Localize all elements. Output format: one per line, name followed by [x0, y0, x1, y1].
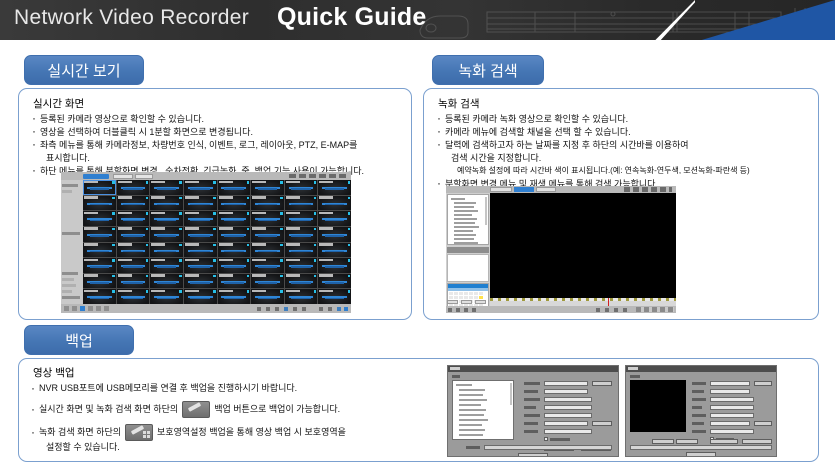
panel-recording-search: 녹화 검색 등록된 카메라 녹화 영상으로 확인할 수 있습니다. 카메라 메뉴… — [423, 88, 819, 320]
list-item: 등록된 카메라 영상으로 확인할 수 있습니다. — [31, 113, 411, 125]
camera-tile[interactable] — [150, 258, 183, 273]
sr-timeline[interactable] — [490, 298, 676, 306]
lv-camera-grid[interactable] — [83, 180, 351, 304]
camera-tile[interactable] — [184, 243, 217, 258]
lv-tool-icon[interactable] — [302, 307, 306, 311]
camera-tile[interactable] — [285, 227, 318, 242]
list-item: 등록된 카메라 녹화 영상으로 확인할 수 있습니다. — [436, 113, 818, 125]
camera-tile[interactable] — [150, 274, 183, 289]
panel-backup: 영상 백업 · NVR USB포트에 USB메모리를 연결 후 백업을 진행하시… — [18, 358, 819, 462]
sr-playhead[interactable] — [608, 298, 609, 306]
camera-tile[interactable] — [285, 289, 318, 304]
sr-timeline-ticks — [490, 298, 676, 301]
camera-tile[interactable] — [318, 243, 351, 258]
camera-tile[interactable] — [150, 227, 183, 242]
camera-tile[interactable] — [218, 258, 251, 273]
dialog-titlebar — [626, 366, 776, 372]
camera-tile[interactable] — [150, 243, 183, 258]
camera-tile[interactable] — [83, 227, 116, 242]
list-item: 예약녹화 설정에 따라 시간바 색이 표시됩니다.(예: 연속녹화-연두색, 모… — [436, 165, 818, 177]
list-item: 카메라 메뉴에 검색할 채널을 선택 할 수 있습니다. — [436, 126, 818, 138]
camera-tile[interactable] — [218, 227, 251, 242]
camera-tile[interactable] — [83, 196, 116, 211]
sr-btn-2[interactable] — [461, 300, 472, 304]
calendar-weekdays — [448, 288, 488, 291]
lv-left-sidebar[interactable] — [61, 180, 83, 304]
panel-live-view: 실시간 화면 등록된 카메라 영상으로 확인할 수 있습니다. 영상을 선택하여… — [18, 88, 412, 320]
camera-tile[interactable] — [318, 274, 351, 289]
backup-icon[interactable] — [182, 401, 210, 418]
camera-tile[interactable] — [318, 211, 351, 226]
backup-line-2-pre: 실시간 화면 및 녹화 검색 화면 하단의 — [39, 403, 178, 416]
lv-top-toolbar[interactable] — [61, 172, 351, 180]
badge-recording-search: 녹화 검색 — [432, 55, 544, 85]
live-section-title: 실시간 화면 — [33, 96, 411, 111]
sr-info-area — [447, 254, 489, 282]
lv-tab-3[interactable] — [135, 174, 153, 180]
camera-tile[interactable] — [218, 274, 251, 289]
backup-protect-dialog-screenshot[interactable] — [625, 365, 777, 457]
lv-tool-icon[interactable] — [275, 307, 279, 311]
camera-tile[interactable] — [117, 180, 150, 195]
sr-tab-active[interactable] — [514, 187, 534, 192]
sr-left-sidebar[interactable] — [446, 193, 490, 313]
lv-tool-icon[interactable] — [266, 307, 270, 311]
list-item: 표시합니다. — [31, 152, 411, 164]
camera-tile[interactable] — [285, 243, 318, 258]
dialog-action-btn-2[interactable] — [676, 439, 698, 444]
lv-tool-icon[interactable] — [337, 307, 341, 311]
backup-protect-icon[interactable] — [125, 424, 153, 441]
lv-tool-icon[interactable] — [293, 307, 297, 311]
camera-tile[interactable] — [150, 196, 183, 211]
list-item: 달력에 검색하고자 하는 날짜를 지정 후 하단의 시간바를 이용하여 — [436, 139, 818, 151]
dialog-action-btn-1[interactable] — [652, 439, 674, 444]
camera-tile[interactable] — [184, 211, 217, 226]
camera-tile[interactable] — [318, 258, 351, 273]
dialog-close-btn[interactable] — [686, 452, 716, 457]
lv-layout-btn[interactable] — [64, 306, 69, 311]
camera-tile[interactable] — [285, 274, 318, 289]
page-subtitle: Quick Guide — [277, 3, 426, 32]
camera-tile[interactable] — [218, 211, 251, 226]
camera-tile[interactable] — [318, 180, 351, 195]
camera-tile[interactable] — [117, 258, 150, 273]
dialog-camera-list[interactable] — [452, 380, 514, 440]
camera-tile[interactable] — [251, 180, 284, 195]
camera-tile[interactable] — [150, 211, 183, 226]
camera-tile[interactable] — [218, 180, 251, 195]
lv-tool-icon[interactable] — [328, 307, 332, 311]
calendar-selected-day[interactable] — [479, 296, 483, 299]
camera-tile[interactable] — [218, 196, 251, 211]
search-section-title: 녹화 검색 — [438, 96, 818, 111]
page-header: Network Video Recorder Quick Guide — [0, 0, 835, 40]
camera-tile[interactable] — [83, 243, 116, 258]
camera-tile[interactable] — [184, 196, 217, 211]
dialog-progress — [630, 445, 772, 450]
camera-tile[interactable] — [117, 243, 150, 258]
backup-line-2-post: 백업 버튼으로 백업이 가능합니다. — [214, 403, 340, 416]
camera-tile[interactable] — [285, 258, 318, 273]
camera-tile[interactable] — [251, 211, 284, 226]
camera-tile[interactable] — [184, 180, 217, 195]
sr-tab-3[interactable] — [536, 187, 556, 192]
sr-calendar-buttons[interactable] — [447, 300, 489, 305]
camera-tile[interactable] — [318, 227, 351, 242]
camera-tile[interactable] — [184, 274, 217, 289]
dialog-close-btn[interactable] — [518, 453, 548, 457]
camera-tile[interactable] — [150, 180, 183, 195]
sr-bottom-toolbar[interactable] — [446, 306, 676, 313]
camera-tile[interactable] — [184, 258, 217, 273]
lv-tool-icon[interactable] — [257, 307, 261, 311]
camera-tile[interactable] — [150, 289, 183, 304]
camera-tile[interactable] — [83, 180, 116, 195]
sr-top-toolbar[interactable] — [446, 186, 676, 193]
badge-backup: 백업 — [24, 325, 134, 355]
camera-tile[interactable] — [83, 211, 116, 226]
camera-tile[interactable] — [251, 289, 284, 304]
sr-btn-3[interactable] — [475, 300, 486, 304]
camera-tile[interactable] — [117, 227, 150, 242]
page-title: Network Video Recorder — [14, 6, 249, 30]
camera-tile[interactable] — [218, 243, 251, 258]
camera-tile[interactable] — [83, 274, 116, 289]
list-item: 검색 시간을 지정합니다. — [436, 152, 818, 164]
sr-toolbar-icons[interactable] — [624, 187, 672, 192]
camera-tile[interactable] — [83, 289, 116, 304]
lv-timestamp — [289, 174, 347, 178]
lv-tab-active[interactable] — [83, 174, 109, 180]
live-bullet-list: 등록된 카메라 영상으로 확인할 수 있습니다. 영상을 선택하여 더블클릭 시… — [31, 113, 411, 177]
backup-dialog-screenshot[interactable] — [447, 365, 619, 457]
sr-btn-1[interactable] — [447, 300, 458, 304]
camera-tile[interactable] — [251, 258, 284, 273]
sr-section-header — [447, 247, 489, 253]
sr-tool-icon[interactable] — [605, 308, 609, 312]
camera-tile[interactable] — [83, 258, 116, 273]
lv-tool-icon[interactable] — [319, 307, 323, 311]
sr-tool-icon[interactable] — [456, 308, 460, 312]
live-view-screenshot[interactable] — [61, 172, 351, 313]
lv-layout-btn[interactable] — [88, 306, 93, 311]
camera-tile[interactable] — [218, 289, 251, 304]
camera-tile[interactable] — [117, 211, 150, 226]
list-item: 영상을 선택하여 더블클릭 시 1분할 화면으로 변경됩니다. — [31, 126, 411, 138]
camera-tile[interactable] — [184, 289, 217, 304]
sr-tool-icon[interactable] — [448, 308, 452, 312]
camera-tile[interactable] — [251, 227, 284, 242]
camera-tile[interactable] — [117, 196, 150, 211]
camera-tile[interactable] — [285, 196, 318, 211]
dialog-titlebar — [448, 366, 618, 372]
badge-live-view: 실시간 보기 — [24, 55, 144, 85]
lv-layout-btn[interactable] — [104, 306, 109, 311]
recording-search-screenshot[interactable] — [446, 186, 676, 313]
lv-bottom-toolbar[interactable] — [61, 304, 351, 313]
camera-tile[interactable] — [318, 289, 351, 304]
backup-line-3-post: 보호영역설정 백업을 통해 영상 백업 시 보호영역을 — [157, 426, 346, 439]
camera-tile[interactable] — [117, 274, 150, 289]
lv-tab-2[interactable] — [113, 174, 133, 180]
backup-line-3-pre: 녹화 검색 화면 하단의 — [39, 426, 121, 439]
camera-tile[interactable] — [251, 274, 284, 289]
camera-tile[interactable] — [285, 211, 318, 226]
dialog-preview-area[interactable] — [630, 380, 686, 432]
sr-transport-controls[interactable] — [636, 307, 674, 312]
list-item: 좌측 메뉴를 통해 카메라정보, 차량번호 인식, 이벤트, 로그, 레이아웃,… — [31, 139, 411, 151]
lv-layout-btn[interactable] — [72, 306, 77, 311]
camera-tile[interactable] — [285, 180, 318, 195]
camera-tile[interactable] — [251, 196, 284, 211]
camera-tile[interactable] — [117, 289, 150, 304]
backup-line-4-text: 설정할 수 있습니다. — [46, 441, 120, 454]
sr-play-icon[interactable] — [596, 308, 600, 312]
camera-tile[interactable] — [184, 227, 217, 242]
backup-line-1-text: NVR USB포트에 USB메모리를 연결 후 백업을 진행하시기 바랍니다. — [39, 382, 297, 395]
sr-tool-icon[interactable] — [464, 308, 468, 312]
dialog-btn-1[interactable] — [710, 439, 738, 444]
lv-layout-btn[interactable] — [96, 306, 101, 311]
search-bullet-list: 등록된 카메라 녹화 영상으로 확인할 수 있습니다. 카메라 메뉴에 검색할 … — [436, 113, 818, 190]
sr-protect-icon[interactable] — [623, 308, 627, 312]
sr-playback-area[interactable] — [490, 193, 676, 298]
camera-tile[interactable] — [251, 243, 284, 258]
lv-layout-btn-active[interactable] — [80, 306, 85, 311]
dialog-btn-2[interactable] — [742, 439, 772, 444]
sr-tool-icon[interactable] — [472, 308, 476, 312]
sr-tab-1[interactable] — [490, 187, 512, 192]
dialog-checkbox[interactable] — [544, 437, 548, 441]
camera-tile[interactable] — [318, 196, 351, 211]
sr-backup-icon[interactable] — [614, 308, 618, 312]
lv-tool-icon[interactable] — [344, 307, 348, 311]
sr-camera-tree[interactable] — [447, 194, 489, 245]
lv-backup-icon[interactable] — [284, 307, 288, 311]
dialog-progress — [484, 445, 612, 450]
